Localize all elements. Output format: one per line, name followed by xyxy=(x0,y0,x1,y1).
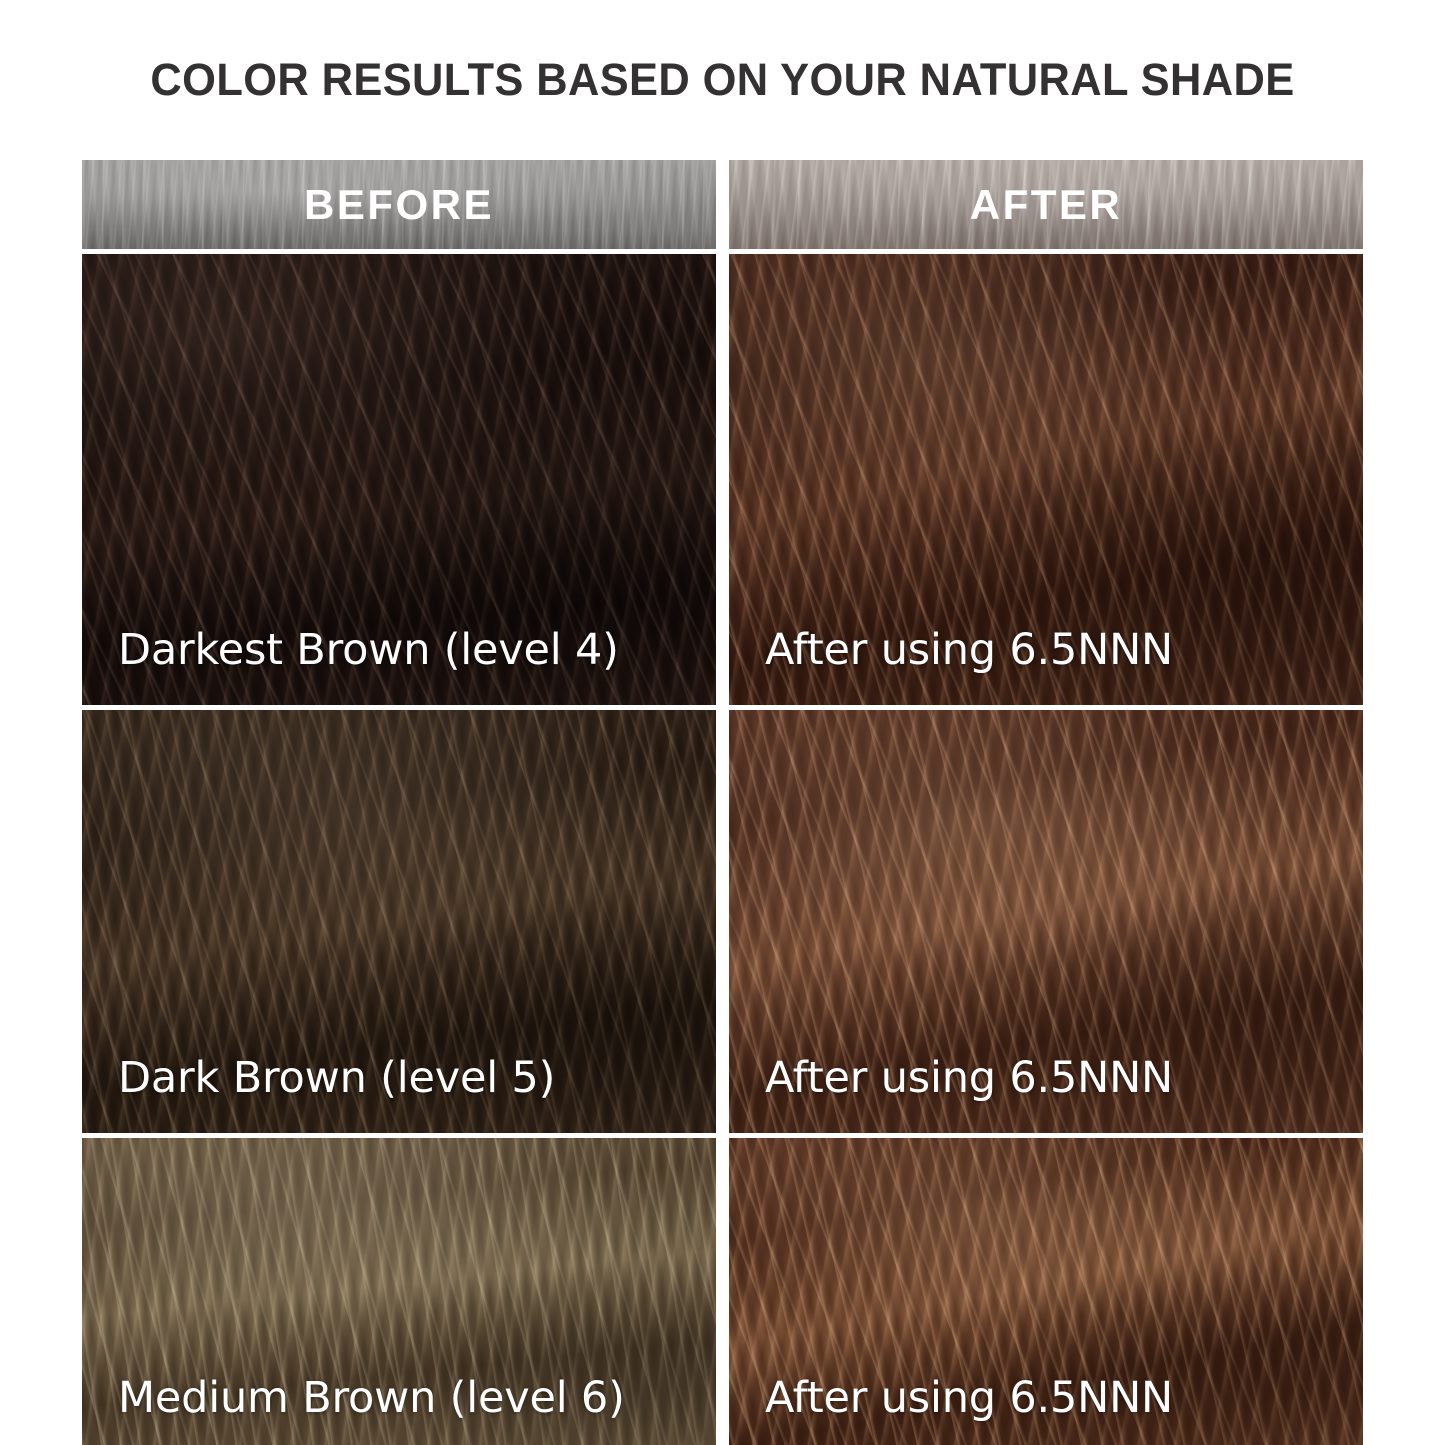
after-level-4-label: After using 6.5NNN xyxy=(765,625,1173,675)
before-level-6-label: Medium Brown (level 6) xyxy=(118,1373,625,1423)
before-header-band: BEFORE xyxy=(82,160,716,249)
column-after: AFTER After using 6.5NNN After using 6.5… xyxy=(729,160,1363,1445)
after-header-band: AFTER xyxy=(729,160,1363,249)
after-swatch-level-4: After using 6.5NNN xyxy=(729,254,1363,705)
before-header-label: BEFORE xyxy=(82,181,716,229)
after-level-5-label: After using 6.5NNN xyxy=(765,1053,1173,1103)
after-level-6-label: After using 6.5NNN xyxy=(765,1373,1173,1423)
before-level-4-label: Darkest Brown (level 4) xyxy=(118,625,619,675)
after-header-label: AFTER xyxy=(729,181,1363,229)
after-swatch-level-5: After using 6.5NNN xyxy=(729,710,1363,1133)
page-title: COLOR RESULTS BASED ON YOUR NATURAL SHAD… xyxy=(25,54,1419,106)
color-results-infographic: COLOR RESULTS BASED ON YOUR NATURAL SHAD… xyxy=(0,0,1445,1445)
column-before: BEFORE Darkest Brown (level 4) Dark Brow… xyxy=(82,160,716,1445)
before-swatch-level-6: Medium Brown (level 6) xyxy=(82,1138,716,1445)
before-swatch-level-5: Dark Brown (level 5) xyxy=(82,710,716,1133)
before-swatch-level-4: Darkest Brown (level 4) xyxy=(82,254,716,705)
before-level-5-label: Dark Brown (level 5) xyxy=(118,1053,555,1103)
after-swatch-level-6: After using 6.5NNN xyxy=(729,1138,1363,1445)
before-after-comparison-grid: BEFORE Darkest Brown (level 4) Dark Brow… xyxy=(82,160,1363,1445)
